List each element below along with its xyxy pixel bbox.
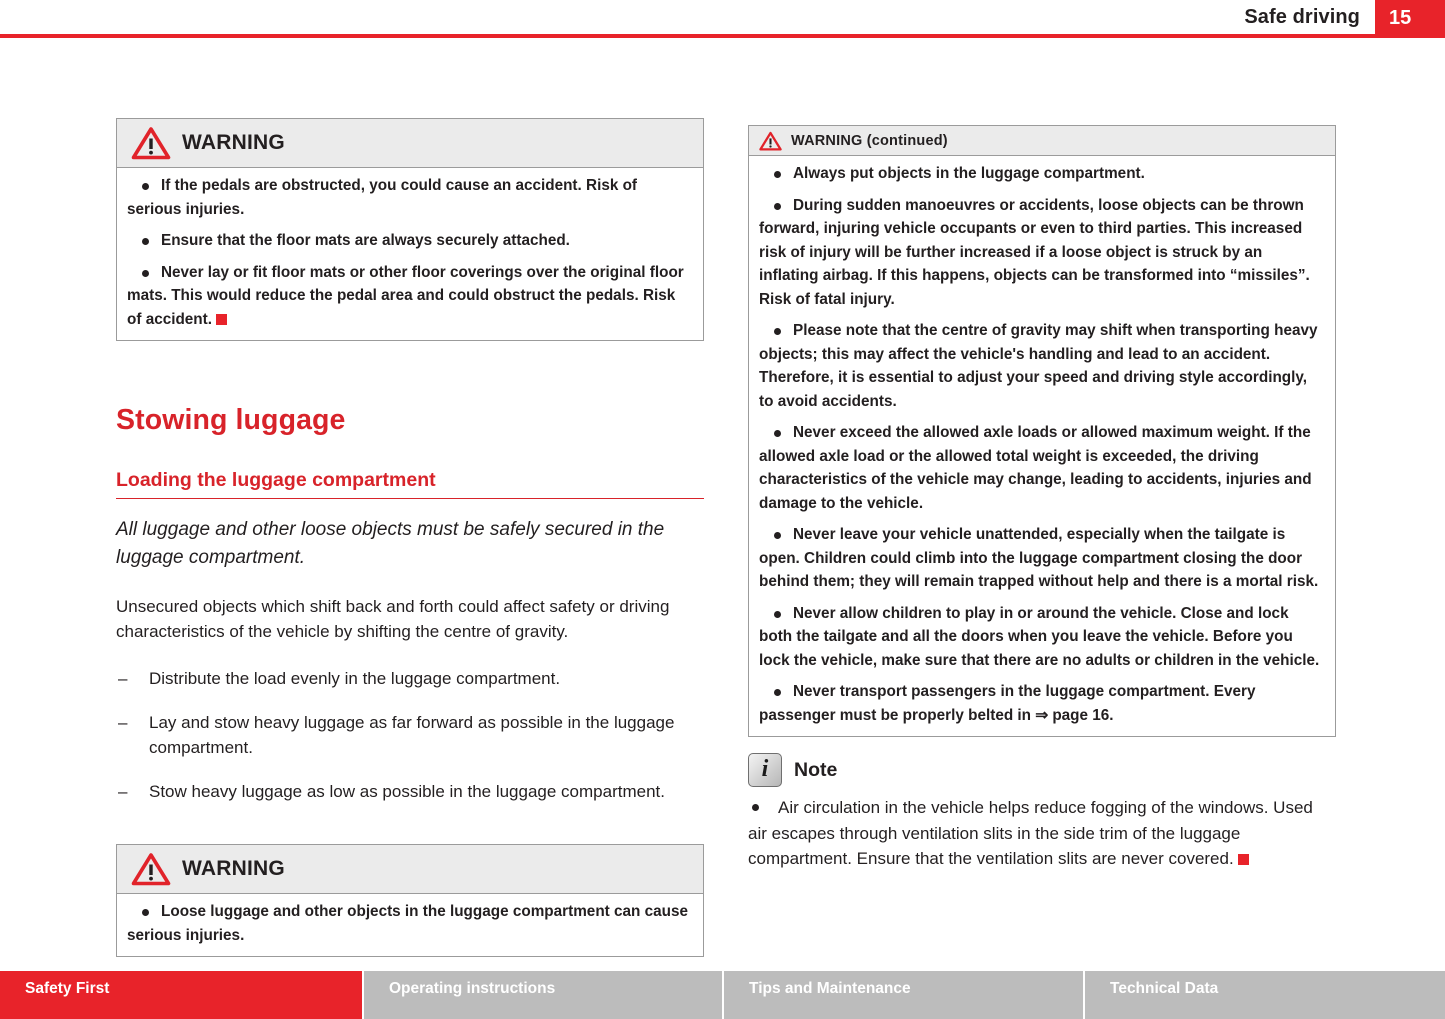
warning-box-top-title: WARNING xyxy=(182,131,285,155)
warning-bullet: Loose luggage and other objects in the l… xyxy=(127,900,693,947)
warning-bullet: Never lay or fit floor mats or other flo… xyxy=(127,261,693,332)
warning-bullet: During sudden manoeuvres or accidents, l… xyxy=(759,194,1325,312)
warning-bullet: Please note that the centre of gravity m… xyxy=(759,319,1325,413)
list-item: Lay and stow heavy luggage as far forwar… xyxy=(116,710,704,761)
intro-italic-paragraph: All luggage and other loose objects must… xyxy=(116,516,704,572)
warning-bullet: Never leave your vehicle unattended, esp… xyxy=(759,523,1325,594)
header-rule xyxy=(0,34,1445,38)
warning-triangle-icon xyxy=(131,126,171,160)
warning-bullet-text: Never lay or fit floor mats or other flo… xyxy=(127,264,684,328)
warning-top-bullet-list: If the pedals are obstructed, you could … xyxy=(127,174,693,331)
body-paragraph: Unsecured objects which shift back and f… xyxy=(116,594,704,644)
end-of-section-marker xyxy=(1238,854,1249,865)
page-number-badge: 15 xyxy=(1375,0,1445,37)
warning-box-bottom-title: WARNING xyxy=(182,857,285,881)
warning-box-top-header: WARNING xyxy=(117,119,703,168)
footer-tab-tips-and-maintenance[interactable]: Tips and Maintenance xyxy=(724,971,1083,1019)
warning-box-continued: WARNING (continued) Always put objects i… xyxy=(748,125,1336,737)
warning-box-bottom-header: WARNING xyxy=(117,845,703,894)
right-column: WARNING (continued) Always put objects i… xyxy=(748,125,1336,872)
warning-bottom-bullet-list: Loose luggage and other objects in the l… xyxy=(127,900,693,947)
footer-tab-safety-first[interactable]: Safety First xyxy=(0,971,362,1019)
warning-bullet: If the pedals are obstructed, you could … xyxy=(127,174,693,221)
warning-bullet: Ensure that the floor mats are always se… xyxy=(127,229,693,253)
left-column: WARNING If the pedals are obstructed, yo… xyxy=(116,118,704,957)
warning-bullet: Never transport passengers in the luggag… xyxy=(759,680,1325,727)
list-item: Stow heavy luggage as low as possible in… xyxy=(116,779,704,805)
footer-tab-technical-data[interactable]: Technical Data xyxy=(1085,971,1445,1019)
footer-tab-label: Technical Data xyxy=(1110,980,1218,998)
end-of-section-marker xyxy=(216,314,227,325)
warning-bullet: Never allow children to play in or aroun… xyxy=(759,602,1325,673)
warning-box-top-body: If the pedals are obstructed, you could … xyxy=(117,168,703,340)
footer-tab-label: Safety First xyxy=(25,980,109,998)
note-title: Note xyxy=(794,759,837,782)
manual-page: Safe driving 15 WARNING If the pedals ar… xyxy=(0,0,1445,1019)
warning-box-continued-body: Always put objects in the luggage compar… xyxy=(749,156,1335,736)
note-header: i Note xyxy=(748,753,1336,787)
dash-list: Distribute the load evenly in the luggag… xyxy=(116,666,704,804)
note-bullet-list: Air circulation in the vehicle helps red… xyxy=(748,795,1336,872)
warning-continued-bullet-list: Always put objects in the luggage compar… xyxy=(759,162,1325,727)
warning-box-continued-title: WARNING (continued) xyxy=(791,133,948,149)
footer-tab-label: Operating instructions xyxy=(389,980,555,998)
warning-triangle-icon xyxy=(759,131,782,151)
info-note-icon: i xyxy=(748,753,782,787)
warning-bullet: Always put objects in the luggage compar… xyxy=(759,162,1325,186)
footer-tab-operating-instructions[interactable]: Operating instructions xyxy=(364,971,722,1019)
subsection-heading: Loading the luggage compartment xyxy=(116,469,704,499)
warning-box-bottom-body: Loose luggage and other objects in the l… xyxy=(117,894,703,956)
note-bullet: Air circulation in the vehicle helps red… xyxy=(748,795,1336,872)
warning-bullet: Never exceed the allowed axle loads or a… xyxy=(759,421,1325,515)
warning-triangle-icon xyxy=(131,852,171,886)
note-bullet-text: Air circulation in the vehicle helps red… xyxy=(748,798,1313,868)
warning-box-bottom: WARNING Loose luggage and other objects … xyxy=(116,844,704,957)
warning-box-continued-header: WARNING (continued) xyxy=(749,126,1335,156)
footer-tabs: Safety First Operating instructions Tips… xyxy=(0,971,1445,1019)
page-title: Safe driving xyxy=(1244,6,1360,29)
page-number: 15 xyxy=(1389,7,1411,30)
list-item: Distribute the load evenly in the luggag… xyxy=(116,666,704,692)
page-header: Safe driving 15 xyxy=(0,0,1445,37)
footer-tab-label: Tips and Maintenance xyxy=(749,980,911,998)
warning-box-top: WARNING If the pedals are obstructed, yo… xyxy=(116,118,704,341)
section-heading: Stowing luggage xyxy=(116,404,704,437)
